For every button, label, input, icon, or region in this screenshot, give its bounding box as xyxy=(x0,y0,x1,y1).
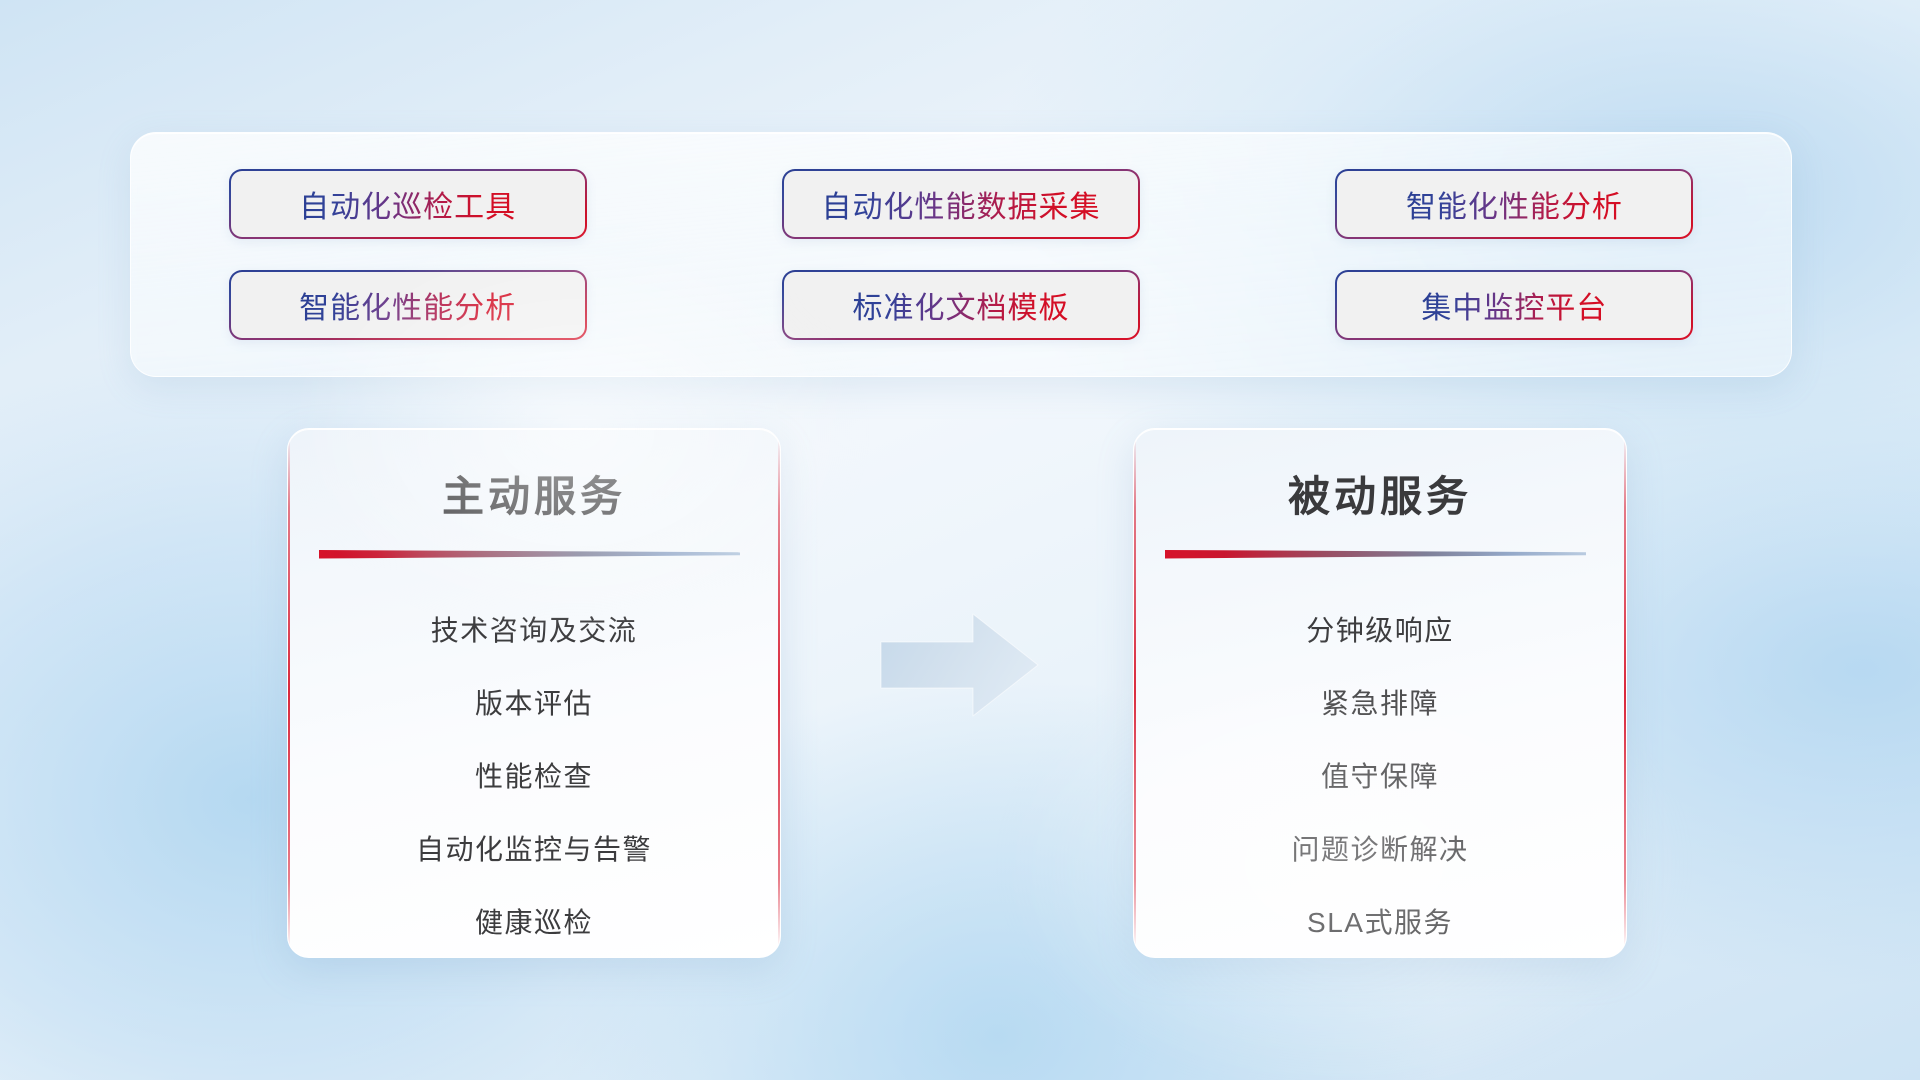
list-item: 版本评估 xyxy=(475,667,593,740)
service-card-passive[interactable]: 被动服务 分钟级响应 紧急排障 值守保障 xyxy=(1133,428,1627,958)
list-item: 值守保障 xyxy=(1321,740,1439,813)
capability-pill[interactable]: 智能化性能分析 xyxy=(1335,169,1693,239)
capability-pill[interactable]: 智能化性能分析 xyxy=(229,270,587,340)
list-item: 性能检查 xyxy=(475,740,593,813)
diagram-canvas: 自动化巡检工具 自动化性能数据采集 智能化性能分析 智能化性能分析 xyxy=(0,0,1920,1080)
right-arrow-icon xyxy=(877,610,1042,720)
capability-pill-label: 自动化性能数据采集 xyxy=(821,182,1100,226)
capability-pill[interactable]: 自动化巡检工具 xyxy=(229,169,587,239)
capability-pill[interactable]: 标准化文档模板 xyxy=(782,270,1140,340)
card-divider xyxy=(319,548,740,559)
capability-pill-label: 集中监控平台 xyxy=(1421,283,1607,327)
capability-pill[interactable]: 集中监控平台 xyxy=(1335,270,1693,340)
list-item: 分钟级响应 xyxy=(1306,594,1454,667)
capability-pill-inner: 自动化性能数据采集 xyxy=(784,171,1138,237)
capability-pill-grid: 自动化巡检工具 自动化性能数据采集 智能化性能分析 智能化性能分析 xyxy=(131,133,1791,376)
capability-pill-label: 标准化文档模板 xyxy=(852,283,1069,327)
list-item: 紧急排障 xyxy=(1321,667,1439,740)
capability-pill-label: 智能化性能分析 xyxy=(1406,182,1623,226)
service-card-active[interactable]: 主动服务 技术咨询及交流 版本评估 性能检查 xyxy=(287,428,781,958)
capability-pill-inner: 标准化文档模板 xyxy=(784,272,1138,338)
card-title: 主动服务 xyxy=(288,463,780,524)
card-divider xyxy=(1165,548,1586,559)
list-item: SLA式服务 xyxy=(1307,886,1453,958)
capability-pill-label: 智能化性能分析 xyxy=(299,283,516,327)
capability-pill-inner: 智能化性能分析 xyxy=(231,272,585,338)
capabilities-panel: 自动化巡检工具 自动化性能数据采集 智能化性能分析 智能化性能分析 xyxy=(130,132,1792,377)
capability-pill-label: 自动化巡检工具 xyxy=(299,182,516,226)
capability-pill-inner: 智能化性能分析 xyxy=(1337,171,1691,237)
list-item: 技术咨询及交流 xyxy=(431,594,638,667)
capability-pill-inner: 集中监控平台 xyxy=(1337,272,1691,338)
list-item: 健康巡检 xyxy=(475,886,593,958)
card-item-list: 技术咨询及交流 版本评估 性能检查 自动化监控与告警 健康巡检 xyxy=(288,594,780,958)
card-title: 被动服务 xyxy=(1134,463,1626,524)
divider-shape-icon xyxy=(1165,548,1586,559)
divider-shape-icon xyxy=(319,548,740,559)
capability-pill[interactable]: 自动化性能数据采集 xyxy=(782,169,1140,239)
list-item: 问题诊断解决 xyxy=(1291,813,1468,886)
card-item-list: 分钟级响应 紧急排障 值守保障 问题诊断解决 SLA式服务 xyxy=(1134,594,1626,958)
capability-pill-inner: 自动化巡检工具 xyxy=(231,171,585,237)
list-item: 自动化监控与告警 xyxy=(416,813,652,886)
